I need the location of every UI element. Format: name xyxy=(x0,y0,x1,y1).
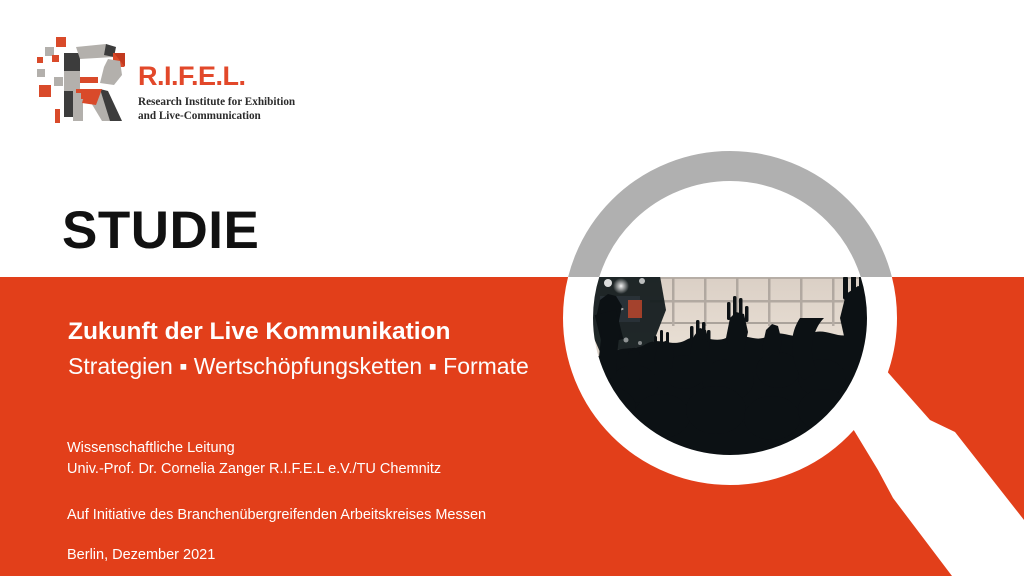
rifel-tagline: Research Institute for Exhibition and Li… xyxy=(138,96,338,123)
page-subtitle: Strategien ▪ Wertschöpfungsketten ▪ Form… xyxy=(68,354,529,379)
rifel-wordmark: R.I.F.E.L. xyxy=(138,63,338,90)
rifel-tagline-line-1: Research Institute for Exhibition xyxy=(138,96,338,110)
place-and-date: Berlin, Dezember 2021 xyxy=(67,545,215,566)
scientific-lead-label: Wissenschaftliche Leitung xyxy=(67,438,235,459)
rifel-pixel-r-mark-icon xyxy=(34,33,132,125)
rifel-tagline-line-2: and Live-Communication xyxy=(138,110,338,124)
rifel-logo[interactable]: R.I.F.E.L. Research Institute for Exhibi… xyxy=(34,33,334,128)
scientific-lead-person: Univ.-Prof. Dr. Cornelia Zanger R.I.F.E.… xyxy=(67,459,441,480)
page-kicker: STUDIE xyxy=(62,204,259,257)
page-title: Zukunft der Live Kommunikation xyxy=(68,319,451,346)
rifel-wordmark-block: R.I.F.E.L. Research Institute for Exhibi… xyxy=(138,63,338,123)
title-slide: R.I.F.E.L. Research Institute for Exhibi… xyxy=(0,0,1024,576)
initiative-note: Auf Initiative des Branchenübergreifende… xyxy=(67,505,486,526)
